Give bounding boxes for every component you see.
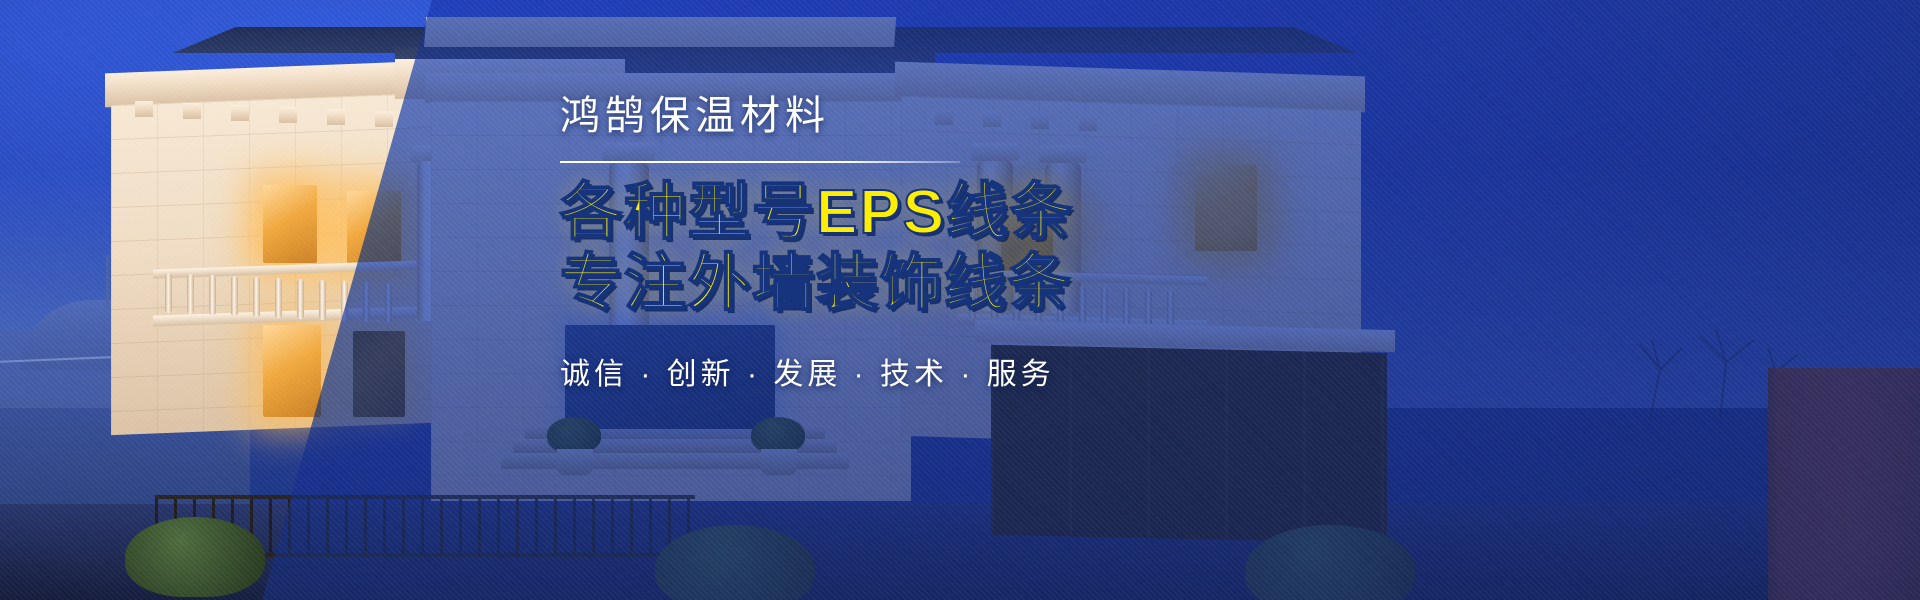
corbel-3	[231, 105, 249, 121]
brand-name: 鸿鹄保温材料	[560, 96, 1560, 136]
window-left-upper-a	[263, 185, 317, 263]
headline-line-2: 专注外墙装饰线条	[560, 252, 1560, 315]
text-divider-rule	[560, 161, 960, 163]
headline-line-1: 各种型号EPS线条	[560, 181, 1560, 244]
baluster	[187, 274, 194, 314]
baluster	[319, 280, 326, 320]
corbel-4	[279, 107, 297, 123]
baluster	[275, 278, 282, 318]
banner-text-block: 鸿鹄保温材料 各种型号EPS线条 专注外墙装饰线条 诚信 · 创新 · 发展 ·…	[560, 96, 1560, 393]
corbel-6	[375, 111, 393, 127]
corbel-1	[135, 101, 153, 117]
tagline: 诚信 · 创新 · 发展 · 技术 · 服务	[560, 349, 1560, 393]
baluster	[165, 273, 172, 313]
window-left-lower-a	[263, 325, 321, 417]
baluster	[297, 279, 304, 319]
promo-banner: 鸿鹄保温材料 各种型号EPS线条 专注外墙装饰线条 诚信 · 创新 · 发展 ·…	[0, 0, 1920, 600]
baluster	[209, 275, 216, 315]
baluster	[253, 277, 260, 317]
corbel-5	[327, 109, 345, 125]
baluster	[231, 276, 238, 316]
corbel-2	[183, 103, 201, 119]
foreground-shrub-left	[125, 517, 265, 597]
